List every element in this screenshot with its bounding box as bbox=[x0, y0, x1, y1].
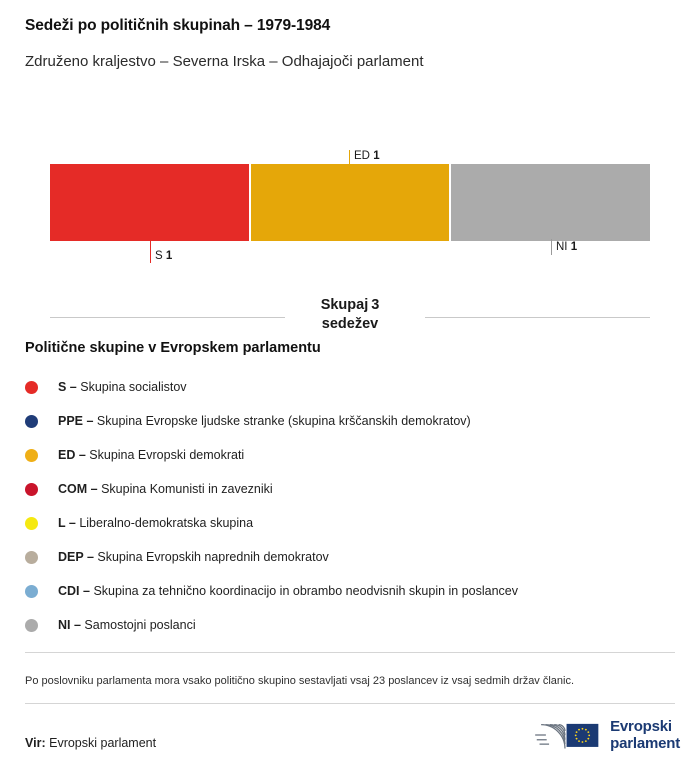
legend-label-ppe: Skupina Evropske ljudske stranke (skupin… bbox=[97, 414, 471, 428]
legend-dot-ppe-icon bbox=[25, 415, 38, 428]
legend-label-ed: Skupina Evropski demokrati bbox=[89, 448, 244, 462]
legend: S – Skupina socialistov PPE – Skupina Ev… bbox=[25, 370, 685, 642]
legend-item-ed[interactable]: ED – Skupina Evropski demokrati bbox=[25, 438, 685, 472]
legend-abbr-s: S – bbox=[58, 380, 77, 394]
source-value: Evropski parlament bbox=[49, 736, 156, 750]
bar-label-s-code: S bbox=[155, 250, 163, 262]
european-parliament-logo: Evropski parlament bbox=[530, 712, 680, 758]
total-value: 3 bbox=[368, 297, 379, 313]
source-label: Vir: bbox=[25, 736, 46, 750]
bar-label-ni-code: NI bbox=[556, 241, 568, 253]
total-rule-left bbox=[50, 317, 285, 318]
chart-subtitle: Združeno kraljestvo – Severna Irska – Od… bbox=[25, 36, 675, 72]
legend-item-l[interactable]: L – Liberalno-demokratska skupina bbox=[25, 506, 685, 540]
bar-label-ed-seats: 1 bbox=[373, 150, 379, 162]
footer-divider-top bbox=[25, 652, 675, 653]
legend-item-dep[interactable]: DEP – Skupina Evropskih naprednih demokr… bbox=[25, 540, 685, 574]
legend-label-cdi: Skupina za tehnično koordinacijo in obra… bbox=[93, 584, 518, 598]
legend-item-com[interactable]: COM – Skupina Komunisti in zavezniki bbox=[25, 472, 685, 506]
page-title: Sedeži po političnih skupinah – 1979-198… bbox=[25, 16, 675, 36]
legend-abbr-l: L – bbox=[58, 516, 76, 530]
legend-dot-dep-icon bbox=[25, 551, 38, 564]
footer-divider-bottom bbox=[25, 703, 675, 704]
legend-item-s[interactable]: S – Skupina socialistov bbox=[25, 370, 685, 404]
legend-dot-ni-icon bbox=[25, 619, 38, 632]
ep-hemicycle-icon bbox=[530, 714, 603, 756]
legend-label-s: Skupina socialistov bbox=[80, 380, 186, 394]
ep-wordmark-line1: Evropski bbox=[610, 718, 680, 735]
legend-label-com: Skupina Komunisti in zavezniki bbox=[101, 482, 273, 496]
bar-segment-ed[interactable] bbox=[251, 164, 449, 241]
bar-label-ed-code: ED bbox=[354, 150, 370, 162]
footnote: Po poslovniku parlamenta mora vsako poli… bbox=[25, 674, 675, 689]
legend-label-ni: Samostojni poslanci bbox=[84, 618, 195, 632]
ep-wordmark-line2: parlament bbox=[610, 735, 680, 752]
legend-abbr-ed: ED – bbox=[58, 448, 86, 462]
bar-label-ni-seats: 1 bbox=[571, 241, 577, 253]
legend-dot-cdi-icon bbox=[25, 585, 38, 598]
total-label: Skupaj bbox=[321, 297, 369, 313]
legend-dot-ed-icon bbox=[25, 449, 38, 462]
source-line: Vir: Evropski parlament bbox=[25, 735, 156, 751]
total-rule-right bbox=[425, 317, 650, 318]
seats-bar-chart: ED 1 S 1 NI 1 bbox=[0, 150, 700, 270]
legend-dot-com-icon bbox=[25, 483, 38, 496]
stacked-bar bbox=[50, 164, 650, 241]
tick-s bbox=[150, 241, 151, 263]
tick-ed bbox=[349, 150, 350, 167]
bar-segment-ni[interactable] bbox=[451, 164, 650, 241]
chart-header: Sedeži po političnih skupinah – 1979-198… bbox=[25, 16, 675, 72]
legend-abbr-ppe: PPE – bbox=[58, 414, 93, 428]
bar-label-s-seats: 1 bbox=[166, 250, 172, 262]
bar-label-ni: NI 1 bbox=[556, 241, 577, 254]
total-seats-row: Skupaj3 sedežev bbox=[50, 296, 650, 338]
bar-label-s: S 1 bbox=[155, 250, 172, 263]
legend-label-l: Liberalno-demokratska skupina bbox=[79, 516, 253, 530]
legend-dot-l-icon bbox=[25, 517, 38, 530]
bar-label-ed: ED 1 bbox=[354, 150, 380, 163]
legend-label-dep: Skupina Evropskih naprednih demokratov bbox=[97, 550, 328, 564]
legend-heading: Politične skupine v Evropskem parlamentu bbox=[25, 340, 321, 356]
legend-abbr-dep: DEP – bbox=[58, 550, 94, 564]
legend-item-cdi[interactable]: CDI – Skupina za tehnično koordinacijo i… bbox=[25, 574, 685, 608]
legend-dot-s-icon bbox=[25, 381, 38, 394]
legend-abbr-com: COM – bbox=[58, 482, 98, 496]
tick-ni bbox=[551, 239, 552, 255]
total-unit: sedežev bbox=[322, 316, 378, 332]
legend-item-ppe[interactable]: PPE – Skupina Evropske ljudske stranke (… bbox=[25, 404, 685, 438]
total-seats: Skupaj3 sedežev bbox=[311, 296, 390, 334]
bar-segment-s[interactable] bbox=[50, 164, 249, 241]
legend-item-ni[interactable]: NI – Samostojni poslanci bbox=[25, 608, 685, 642]
ep-wordmark: Evropski parlament bbox=[610, 718, 680, 752]
legend-abbr-cdi: CDI – bbox=[58, 584, 90, 598]
legend-abbr-ni: NI – bbox=[58, 618, 81, 632]
